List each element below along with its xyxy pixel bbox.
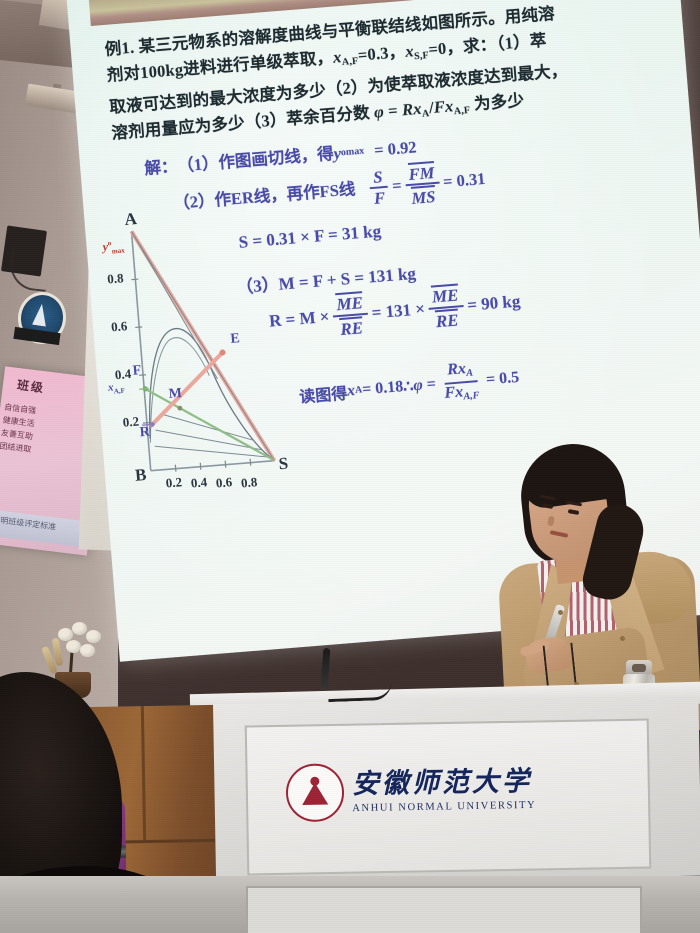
frac-num-ME-2: ME bbox=[431, 283, 459, 306]
cotton-bloom-4 bbox=[66, 640, 81, 653]
poster-title: 班级 bbox=[16, 376, 46, 396]
equation-R-tail: = 90 kg bbox=[466, 291, 521, 315]
jacket-button-2 bbox=[620, 636, 625, 641]
sub-sf: S,F bbox=[414, 50, 430, 62]
cotton-bloom-3 bbox=[86, 630, 101, 643]
edge-AS bbox=[132, 221, 275, 470]
cotton-bloom-5 bbox=[80, 644, 95, 657]
solution-label: 解： bbox=[143, 152, 178, 185]
podium-lower-panel bbox=[246, 886, 642, 933]
fraction-S-over-F: S F bbox=[368, 168, 390, 208]
sub-af: A,F bbox=[342, 56, 359, 68]
diagram-xtick-08: 0.8 bbox=[240, 474, 257, 491]
university-seal-icon bbox=[286, 763, 345, 822]
diagram-vertex-A: A bbox=[124, 209, 138, 230]
phi-num-sub: A bbox=[422, 108, 430, 120]
problem-line-4-b: 为多少 bbox=[473, 91, 524, 114]
frac-den-MS: MS bbox=[411, 185, 436, 207]
phi-frac-num-sub: A bbox=[466, 368, 474, 379]
phi-eq-symbol: φ = bbox=[413, 375, 437, 395]
fraction-FM-over-MS: FM MS bbox=[404, 161, 441, 208]
equation-R-mid: = 131 × bbox=[371, 299, 426, 323]
step1-value: = 0.92 bbox=[373, 132, 418, 165]
step1-sub: max bbox=[345, 137, 366, 168]
cotton-bloom-1 bbox=[58, 628, 73, 641]
university-name-cn: 安徽师范大学 bbox=[352, 767, 536, 797]
university-logo: 安徽师范大学 ANHUI NORMAL UNIVERSITY bbox=[285, 746, 542, 836]
diagram-vertex-S: S bbox=[278, 454, 289, 475]
phi-result: = 0.5 bbox=[485, 368, 519, 389]
phi-frac-num: Rx bbox=[447, 360, 467, 378]
diagram-point-label-E: E bbox=[230, 331, 241, 348]
fraction-ME-over-RE-1: ME RE bbox=[332, 291, 370, 339]
phi-symbol: φ bbox=[373, 102, 384, 122]
poster-footer: 文明班级评定标准 bbox=[0, 509, 91, 547]
phi-den-sub: A,F bbox=[453, 105, 470, 117]
frac-num-FM: FM bbox=[408, 161, 435, 183]
frac-den-F: F bbox=[369, 188, 389, 208]
read-value: = 0.18 bbox=[361, 378, 403, 399]
diagram-xtick-02: 0.2 bbox=[165, 474, 182, 491]
frac-den-RE-2: RE bbox=[435, 308, 459, 331]
diagram-vertex-B: B bbox=[134, 465, 147, 486]
ternary-phase-diagram: A B S yomax xA,F 0.8 0.6 0.4 0.2 0.2 0.4… bbox=[91, 191, 305, 515]
step2-value: = 0.31 bbox=[442, 164, 487, 197]
university-name-en: ANHUI NORMAL UNIVERSITY bbox=[352, 799, 536, 813]
screenshot-root: 班级 自信自强 健康生活 友善互助 团结进取 文明班级评定标准 例1. 某三元物… bbox=[0, 0, 700, 933]
diagram-ytick-06: 0.6 bbox=[110, 318, 127, 335]
diagram-ytick-04: 0.4 bbox=[114, 366, 131, 383]
diagram-ytick-08: 0.8 bbox=[107, 270, 124, 287]
problem-line-2-c: =0，求：（1）萃 bbox=[428, 31, 548, 59]
diagram-xtick-04: 0.4 bbox=[190, 474, 207, 491]
diagram-label-ymax: yomax bbox=[102, 238, 125, 256]
diagram-point-label-F: F bbox=[132, 363, 142, 380]
diagram-point-label-M: M bbox=[168, 386, 182, 403]
axis-x bbox=[151, 461, 275, 471]
phi-numerator: Rx bbox=[401, 99, 422, 120]
frac-num-S: S bbox=[369, 168, 388, 190]
phi-denominator: Fx bbox=[433, 96, 454, 117]
equals-1: = bbox=[391, 171, 403, 202]
phi-frac-den-sub: A,F bbox=[463, 390, 480, 402]
problem-line-2-b: =0.3， bbox=[357, 42, 406, 65]
fraction-RxA-over-FxAF: RxA FxA,F bbox=[438, 360, 484, 404]
phi-frac-den: Fx bbox=[444, 383, 464, 401]
diagram-point-label-R: R bbox=[139, 425, 150, 442]
diagram-ytick-02: 0.2 bbox=[122, 413, 139, 430]
frac-num-ME-1: ME bbox=[336, 291, 364, 314]
jacket-button-3 bbox=[558, 610, 563, 615]
equation-phi: 读图得xA = 0.18 ∴ φ = RxA FxA,F = 0.5 bbox=[298, 357, 521, 416]
frac-den-RE-1: RE bbox=[339, 316, 363, 339]
cotton-bloom-2 bbox=[72, 622, 87, 635]
university-name-block: 安徽师范大学 ANHUI NORMAL UNIVERSITY bbox=[352, 767, 537, 813]
diagram-xtick-06: 0.6 bbox=[215, 474, 232, 491]
read-label: 读图得 bbox=[298, 379, 348, 407]
fraction-ME-over-RE-2: ME RE bbox=[427, 283, 465, 331]
